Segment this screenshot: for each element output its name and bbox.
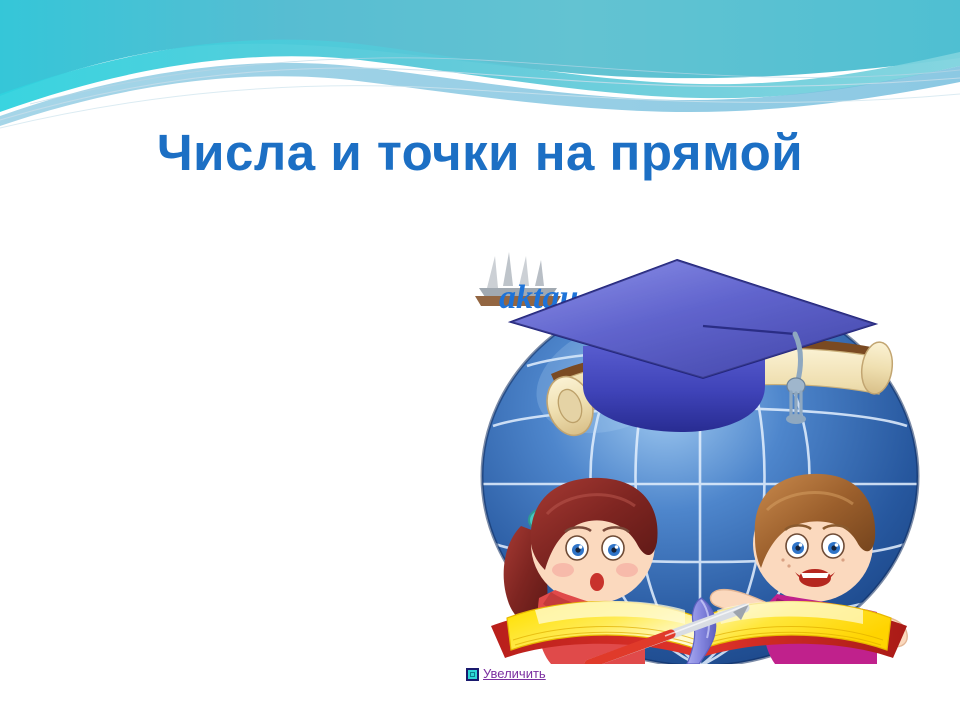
image-placeholder-icon [466, 668, 479, 681]
slide-illustration: aktau [465, 226, 935, 664]
enlarge-link-label[interactable]: Увеличить [483, 666, 546, 682]
page-title: Числа и точки на прямой [157, 124, 803, 182]
globe-graduation-children-graphic: aktau [465, 226, 935, 664]
wave-ribbon-cyan [0, 40, 960, 112]
enlarge-link[interactable]: Увеличить [466, 666, 546, 682]
wave-hairline-2 [0, 86, 960, 128]
wave-banner-graphic [0, 0, 960, 130]
wave-band-primary [0, 0, 960, 96]
presentation-slide: Числа и точки на прямой [0, 0, 960, 720]
page-title-container: Числа и точки на прямой [0, 124, 960, 182]
wave-ribbon-blue [0, 63, 960, 126]
wave-hairline-1 [0, 68, 960, 120]
decorative-wave-banner [0, 0, 960, 130]
wave-hairline-3 [30, 58, 960, 104]
